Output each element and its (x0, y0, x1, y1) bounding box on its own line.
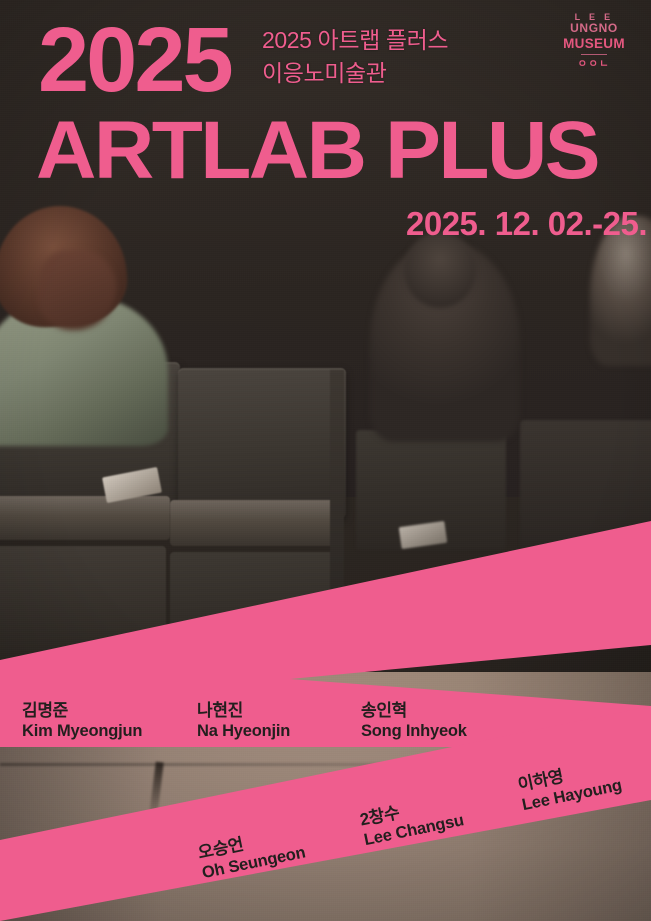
chair-base-left (0, 546, 166, 664)
artist-entry: 나현진 Na Hyeonjin (197, 700, 290, 743)
korean-subtitle-line-1: 2025 아트랩 플러스 (262, 24, 592, 57)
chair-backrest-center (178, 368, 346, 518)
page-title: ARTLAB PLUS (36, 112, 598, 189)
artist-name-en: Song Inhyeok (361, 721, 467, 742)
artist-name-kr: 김명준 (22, 700, 142, 721)
korean-subtitle-line-2: 이응노미술관 (262, 57, 592, 90)
artist-entry: 김명준 Kim Myeongjun (22, 700, 142, 743)
chair-backrest-far-right (520, 420, 651, 560)
logo-mark-icon: ㅇㅇㄴ (559, 59, 629, 71)
audience-figure-center-head (404, 232, 476, 308)
artist-name-en: Na Hyeonjin (197, 721, 290, 742)
artist-name-en: Kim Myeongjun (22, 721, 142, 742)
exhibition-poster: 2025 아트랩 플러스 이응노미술관 L E E UNGNO MUSEUM ㅇ… (0, 0, 651, 921)
korean-subtitle: 2025 아트랩 플러스 이응노미술관 (262, 24, 592, 91)
floor-seam-line (0, 763, 651, 766)
title-year: 2025 (38, 16, 231, 104)
chair-seat-center (170, 500, 342, 546)
artist-entry: 송인혁 Song Inhyeok (361, 700, 467, 743)
chair-base-center (170, 552, 338, 662)
logo-divider-rule (581, 54, 607, 55)
artist-name-kr: 나현진 (197, 700, 290, 721)
logo-line-museum: MUSEUM (559, 36, 629, 52)
logo-line-ungno: UNGNO (559, 22, 629, 36)
chair-divider-post (330, 370, 344, 660)
exhibition-dates: 2025. 12. 02.-25. (406, 205, 647, 243)
lee-ungno-museum-logo: L E E UNGNO MUSEUM ㅇㅇㄴ (559, 12, 629, 70)
artist-name-kr: 송인혁 (361, 700, 467, 721)
chair-seat-left (0, 496, 170, 540)
